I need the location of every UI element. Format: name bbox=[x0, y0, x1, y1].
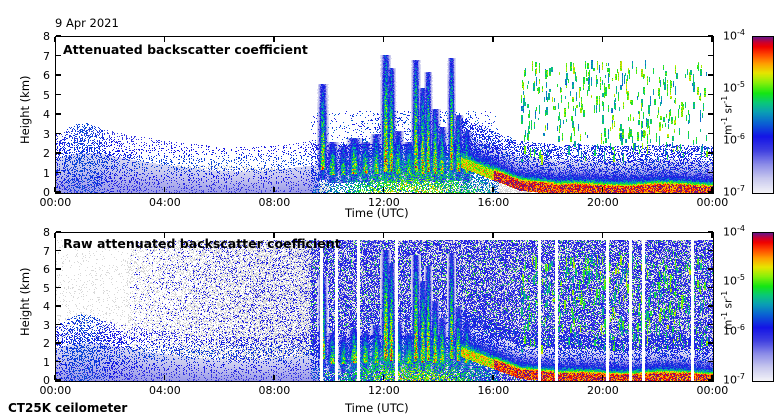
y-tick bbox=[56, 379, 61, 380]
y-tick bbox=[56, 133, 61, 134]
x-tick bbox=[602, 187, 603, 192]
x-tick-top bbox=[492, 233, 493, 238]
x-tick-label: 08:00 bbox=[259, 385, 291, 396]
y-tick-right bbox=[708, 55, 713, 56]
x-tick-top bbox=[164, 37, 165, 42]
x-tick-top bbox=[492, 37, 493, 42]
x-tick-label: 04:00 bbox=[149, 385, 181, 396]
x-tick-top bbox=[383, 37, 384, 42]
x-tick bbox=[383, 187, 384, 192]
y-tick-right bbox=[708, 305, 713, 306]
x-tick bbox=[273, 187, 274, 192]
colorbar-tick-label: 10-5 bbox=[723, 81, 745, 94]
y-tick-label: 3 bbox=[43, 129, 50, 140]
y-tick-right bbox=[708, 113, 713, 114]
y-tick bbox=[56, 250, 61, 251]
y-tick-right bbox=[708, 94, 713, 95]
x-tick-label: 04:00 bbox=[149, 197, 181, 208]
y-tick-right bbox=[708, 287, 713, 288]
colorbar-tick-label: 10-7 bbox=[723, 373, 745, 386]
cb2-exp-2: -1 bbox=[720, 291, 729, 299]
date-label: 9 Apr 2021 bbox=[55, 18, 119, 30]
x-tick bbox=[492, 187, 493, 192]
x-tick bbox=[164, 375, 165, 380]
cb-exp-2: -1 bbox=[720, 96, 729, 104]
x-tick-top bbox=[273, 233, 274, 238]
x-tick-top bbox=[54, 37, 55, 42]
ceilometer-figure: 9 Apr 2021 Attenuated backscatter coeffi… bbox=[0, 0, 780, 420]
x-tick-label: 20:00 bbox=[587, 197, 619, 208]
x-tick-label: 00:00 bbox=[40, 385, 72, 396]
y-tick-label: 8 bbox=[43, 227, 50, 238]
cb-exp-1: -1 bbox=[720, 117, 729, 125]
top-panel-xlabel: Time (UTC) bbox=[345, 208, 409, 220]
bottom-panel-title: Raw attenuated backscatter coefficient bbox=[63, 238, 341, 251]
y-tick bbox=[56, 268, 61, 269]
x-tick-label: 00:00 bbox=[40, 197, 72, 208]
colorbar-tick-label: 10-4 bbox=[723, 225, 745, 238]
x-tick bbox=[602, 375, 603, 380]
x-tick-label: 20:00 bbox=[587, 385, 619, 396]
y-tick-right bbox=[708, 324, 713, 325]
y-tick-right bbox=[708, 342, 713, 343]
instrument-label: CT25K ceilometer bbox=[8, 402, 127, 414]
y-tick-label: 5 bbox=[43, 283, 50, 294]
x-tick bbox=[54, 375, 55, 380]
x-tick-label: 12:00 bbox=[368, 197, 400, 208]
top-panel-title: Attenuated backscatter coefficient bbox=[63, 44, 308, 57]
colorbar-tick-label: 10-7 bbox=[723, 185, 745, 198]
colorbar-tick-label: 10-5 bbox=[723, 274, 745, 287]
y-tick bbox=[56, 35, 61, 36]
x-tick-label: 12:00 bbox=[368, 385, 400, 396]
top-panel-plot bbox=[56, 37, 713, 193]
y-tick-label: 8 bbox=[43, 31, 50, 42]
y-tick-label: 6 bbox=[43, 70, 50, 81]
y-tick-label: 4 bbox=[43, 301, 50, 312]
cb2-unit-sr: sr bbox=[723, 299, 735, 312]
y-tick bbox=[56, 172, 61, 173]
x-tick-label: 08:00 bbox=[259, 197, 291, 208]
x-tick-top bbox=[273, 37, 274, 42]
x-tick bbox=[383, 375, 384, 380]
cb2-unit-m: m bbox=[723, 320, 735, 330]
y-tick bbox=[56, 324, 61, 325]
y-tick-right bbox=[708, 172, 713, 173]
y-tick bbox=[56, 55, 61, 56]
y-tick bbox=[56, 287, 61, 288]
x-tick-top bbox=[602, 233, 603, 238]
bottom-panel-plot bbox=[56, 233, 713, 381]
cb-unit-sr: sr bbox=[723, 104, 735, 117]
x-tick-label: 16:00 bbox=[478, 197, 510, 208]
x-tick bbox=[711, 187, 712, 192]
y-tick bbox=[56, 113, 61, 114]
y-tick-right bbox=[708, 152, 713, 153]
y-tick bbox=[56, 74, 61, 75]
y-tick-label: 7 bbox=[43, 51, 50, 62]
x-tick bbox=[273, 375, 274, 380]
y-tick-label: 4 bbox=[43, 109, 50, 120]
bottom-panel-xlabel: Time (UTC) bbox=[345, 403, 409, 415]
y-tick bbox=[56, 94, 61, 95]
y-tick-label: 2 bbox=[43, 148, 50, 159]
y-tick-right bbox=[708, 74, 713, 75]
x-tick bbox=[164, 187, 165, 192]
bottom-colorbar-gradient bbox=[753, 233, 773, 381]
y-tick bbox=[56, 361, 61, 362]
x-tick bbox=[492, 375, 493, 380]
y-tick-label: 6 bbox=[43, 264, 50, 275]
y-tick-right bbox=[708, 268, 713, 269]
x-tick-top bbox=[164, 233, 165, 238]
y-tick-label: 7 bbox=[43, 246, 50, 257]
x-tick bbox=[711, 375, 712, 380]
bottom-panel-ylabel: Height (km) bbox=[20, 267, 32, 336]
y-tick bbox=[56, 191, 61, 192]
y-tick-label: 2 bbox=[43, 338, 50, 349]
x-tick-top bbox=[54, 233, 55, 238]
x-tick-top bbox=[711, 233, 712, 238]
y-tick-right bbox=[708, 133, 713, 134]
y-tick-label: 1 bbox=[43, 168, 50, 179]
y-tick-label: 5 bbox=[43, 90, 50, 101]
colorbar-tick-label: 10-4 bbox=[723, 29, 745, 42]
y-tick-label: 1 bbox=[43, 357, 50, 368]
x-tick bbox=[54, 187, 55, 192]
top-colorbar-gradient bbox=[753, 37, 773, 193]
y-tick bbox=[56, 152, 61, 153]
top-colorbar-label: m-1 sr-1 bbox=[721, 96, 734, 135]
y-tick-right bbox=[708, 250, 713, 251]
bottom-colorbar-label: m-1 sr-1 bbox=[721, 291, 734, 330]
x-tick-top bbox=[383, 233, 384, 238]
cb-unit-m: m bbox=[723, 125, 735, 135]
x-tick-top bbox=[602, 37, 603, 42]
x-tick-label: 16:00 bbox=[478, 385, 510, 396]
y-tick bbox=[56, 305, 61, 306]
y-tick-right bbox=[708, 361, 713, 362]
y-tick-label: 3 bbox=[43, 320, 50, 331]
cb2-exp-1: -1 bbox=[720, 312, 729, 320]
y-tick bbox=[56, 231, 61, 232]
y-tick bbox=[56, 342, 61, 343]
top-panel-ylabel: Height (km) bbox=[20, 75, 32, 144]
x-tick-top bbox=[711, 37, 712, 42]
